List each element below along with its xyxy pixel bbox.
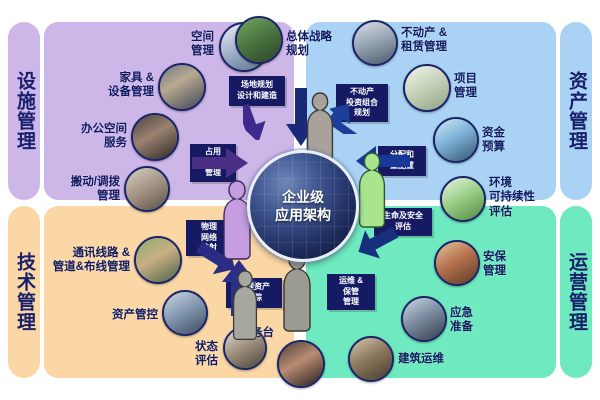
photo-fund-budget xyxy=(435,119,477,161)
node-icon-move-transfer[interactable] xyxy=(124,166,170,212)
node-label-fund-budget: 资金 预算 xyxy=(482,126,540,155)
center-globe: 企业级 应用架构 xyxy=(247,150,359,262)
photo-security-management xyxy=(436,242,478,284)
node-icon-project-management[interactable] xyxy=(403,64,451,112)
person-silhouette-green xyxy=(358,150,386,228)
person-silhouette-purple xyxy=(222,178,252,260)
node-label-move-transfer: 搬动/调拨 管理 xyxy=(26,175,120,204)
photo-realestate-lease xyxy=(354,22,396,64)
process-box-ops-custody[interactable]: 运维 & 保管 管理 xyxy=(327,274,375,310)
photo-service-desk xyxy=(279,342,323,386)
node-label-project-management: 项目 管理 xyxy=(454,72,516,101)
quadrant-label-facility: 设施管理 xyxy=(8,22,40,200)
quadrant-label-technical: 技术管理 xyxy=(8,206,40,378)
node-icon-comm-line-conduit[interactable] xyxy=(134,236,182,284)
arrow-diagonal-upper-left xyxy=(243,100,281,140)
photo-emergency-preparedness xyxy=(403,298,445,340)
node-label-comm-line-conduit: 通讯线路 & 管道&布线管理 xyxy=(26,246,130,275)
photo-office-space-service xyxy=(133,115,177,159)
node-label-status-assessment: 状态 评估 xyxy=(168,340,218,369)
node-icon-building-ops[interactable] xyxy=(348,336,394,382)
node-icon-service-desk[interactable] xyxy=(277,340,325,388)
node-label-env-sustainability: 环境 可持续性 评估 xyxy=(489,176,555,219)
node-label-emergency-preparedness: 应急 准备 xyxy=(450,306,508,335)
photo-overall-strategy xyxy=(237,18,281,62)
arrow-right-left-side xyxy=(192,148,248,178)
node-label-asset-control: 资产管控 xyxy=(66,308,158,322)
photo-comm-line-conduit xyxy=(136,238,180,282)
node-icon-emergency-preparedness[interactable] xyxy=(401,296,447,342)
node-label-security-management: 安保 管理 xyxy=(483,250,541,279)
node-label-furniture-equipment: 家具 & 设备管理 xyxy=(52,71,154,100)
photo-asset-control xyxy=(164,292,206,334)
photo-furniture-equipment xyxy=(160,65,204,109)
node-icon-furniture-equipment[interactable] xyxy=(158,63,206,111)
center-label: 企业级 应用架构 xyxy=(275,188,331,224)
node-icon-realestate-lease[interactable] xyxy=(352,20,398,66)
node-icon-asset-control[interactable] xyxy=(162,290,208,336)
node-label-space-management: 空间 管理 xyxy=(118,30,214,59)
person-silhouette-grey-left xyxy=(232,268,258,340)
node-icon-overall-strategy[interactable] xyxy=(235,16,283,64)
photo-building-ops xyxy=(350,338,392,380)
quadrant-label-asset: 资产管理 xyxy=(560,22,592,200)
node-label-building-ops: 建筑运维 xyxy=(398,352,468,366)
arrow-diagonal-lower-right xyxy=(356,222,398,262)
node-icon-env-sustainability[interactable] xyxy=(440,176,486,222)
node-icon-office-space-service[interactable] xyxy=(131,113,179,161)
node-label-office-space-service: 办公空间 服务 xyxy=(30,122,127,151)
photo-project-management xyxy=(405,66,449,110)
node-icon-security-management[interactable] xyxy=(434,240,480,286)
quadrant-label-operations: 运营管理 xyxy=(560,206,592,378)
node-icon-fund-budget[interactable] xyxy=(433,117,479,163)
node-label-realestate-lease: 不动产 & 租赁管理 xyxy=(401,26,493,55)
node-label-overall-strategy: 总体战略 规划 xyxy=(286,30,348,59)
arrow-diagonal-upper-right xyxy=(330,92,370,134)
photo-env-sustainability xyxy=(442,178,484,220)
photo-move-transfer xyxy=(126,168,168,210)
diagram-canvas: 设施管理 技术管理 资产管理 运营管理 xyxy=(0,0,600,400)
